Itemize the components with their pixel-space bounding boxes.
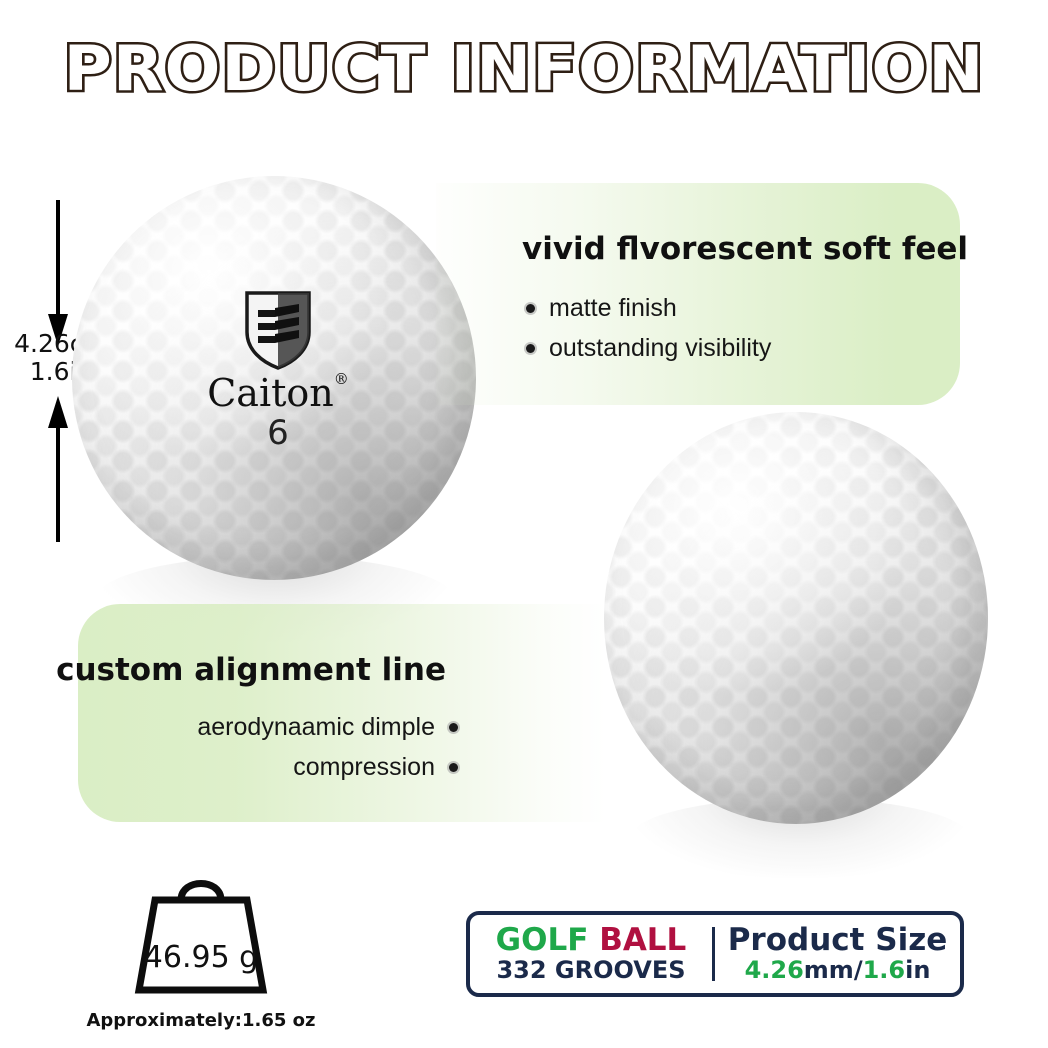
golf-ball-branded: [72, 176, 476, 580]
panel-bullet-list: aerodynaamic dimple compression: [197, 708, 458, 787]
badge-grooves-label: 332 GROOVES: [470, 958, 712, 982]
feature-panel-vivid-fluorescent: vivid flvorescent soft feel matte finish…: [436, 183, 960, 405]
badge-word-golf: GOLF: [496, 922, 589, 958]
dimple-texture-offset: [72, 176, 476, 580]
panel-heading: vivid flvorescent soft feel: [522, 231, 968, 267]
bullet-icon: [449, 763, 458, 772]
badge-word-ball: BALL: [599, 922, 686, 958]
list-item: outstanding visibility: [526, 329, 771, 369]
list-item-label: matte finish: [549, 289, 677, 329]
size-metric-value: 4.26: [745, 956, 804, 984]
badge-right-section: Product Size 4.26mm/1.6in: [715, 925, 960, 982]
list-item-label: aerodynaamic dimple: [197, 708, 435, 748]
weight-value: 46.95 g: [72, 940, 330, 975]
size-imperial-value: 1.6: [863, 956, 906, 984]
list-item: aerodynaamic dimple: [197, 708, 458, 748]
badge-left-section: GOLF BALL 332 GROOVES: [470, 925, 712, 982]
size-imperial-unit: in: [905, 956, 930, 984]
bullet-icon: [526, 344, 535, 353]
panel-bullet-list: matte finish outstanding visibility: [526, 289, 771, 368]
dimple-texture-offset: [604, 412, 988, 824]
badge-product-name: GOLF BALL: [470, 925, 712, 957]
golf-ball-plain: [604, 412, 988, 824]
size-metric-unit: mm/: [804, 956, 863, 984]
list-item: matte finish: [526, 289, 771, 329]
list-item-label: compression: [293, 748, 435, 788]
feature-panel-alignment-line: custom alignment line aerodynaamic dimpl…: [78, 604, 606, 822]
weight-block: 46.95 g Approximately:1.65 oz: [72, 862, 330, 1031]
badge-size-title: Product Size: [715, 925, 960, 957]
bullet-icon: [526, 304, 535, 313]
bullet-icon: [449, 723, 458, 732]
badge-size-value: 4.26mm/1.6in: [715, 958, 960, 982]
product-information-infographic: PRODUCT INFORMATION 4.26cm 1.6in Caiton®: [0, 0, 1048, 1048]
panel-heading: custom alignment line: [56, 652, 446, 688]
weight-icon: [72, 862, 330, 1000]
product-summary-badge: GOLF BALL 332 GROOVES Product Size 4.26m…: [466, 911, 964, 997]
list-item-label: outstanding visibility: [549, 329, 771, 369]
page-title: PRODUCT INFORMATION: [0, 36, 1048, 101]
list-item: compression: [197, 748, 458, 788]
weight-approx-label: Approximately:1.65 oz: [72, 1010, 330, 1031]
